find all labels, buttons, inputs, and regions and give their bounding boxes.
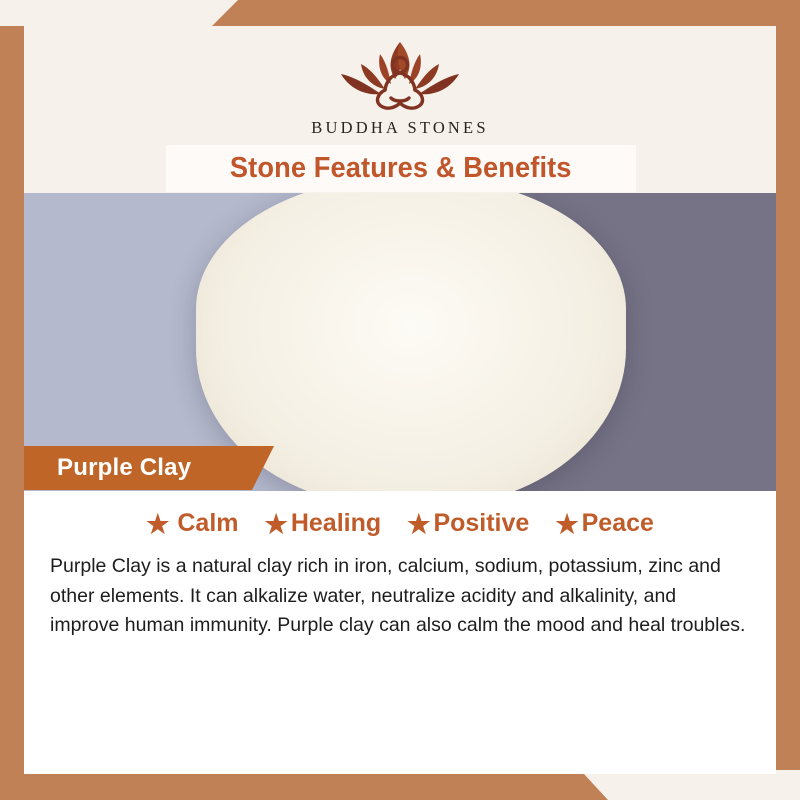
keyword-item-healing: ★ Healing <box>265 509 382 538</box>
keyword-item-calm: ★ Calm <box>146 509 238 538</box>
star-icon: ★ <box>265 511 288 537</box>
keyword-list: ★ Calm ★ Healing ★ Positive ★ Peace <box>24 491 776 538</box>
page-title: Stone Features & Benefits <box>230 152 572 185</box>
content-panel: ★ Calm ★ Healing ★ Positive ★ Peace Purp… <box>24 491 776 774</box>
title-plate: Stone Features & Benefits <box>166 145 636 192</box>
frame-top-band <box>0 0 800 26</box>
lotus-meditation-icon <box>325 32 475 116</box>
brand-header: BUDDHA STONES <box>24 26 776 146</box>
description-text: Purple Clay is a natural clay rich in ir… <box>50 552 750 641</box>
star-icon: ★ <box>407 511 430 537</box>
keyword-item-positive: ★ Positive <box>407 509 529 538</box>
keyword-item-peace: ★ Peace <box>555 509 654 538</box>
frame-left-band <box>0 0 24 800</box>
keyword-label: Positive <box>433 509 529 538</box>
keyword-label: Healing <box>291 509 381 538</box>
promo-poster: BUDDHA STONES Stone Features & Benefits … <box>0 0 800 800</box>
star-icon: ★ <box>146 511 169 537</box>
keyword-label: Calm <box>177 509 238 538</box>
star-icon: ★ <box>555 511 578 537</box>
keyword-label: Peace <box>582 509 654 538</box>
frame-right-band <box>776 0 800 800</box>
frame-bottom-band <box>0 774 800 800</box>
stone-name-banner: Purple Clay <box>24 446 274 490</box>
brand-wordmark: BUDDHA STONES <box>311 118 488 138</box>
stone-name-label: Purple Clay <box>57 454 191 482</box>
